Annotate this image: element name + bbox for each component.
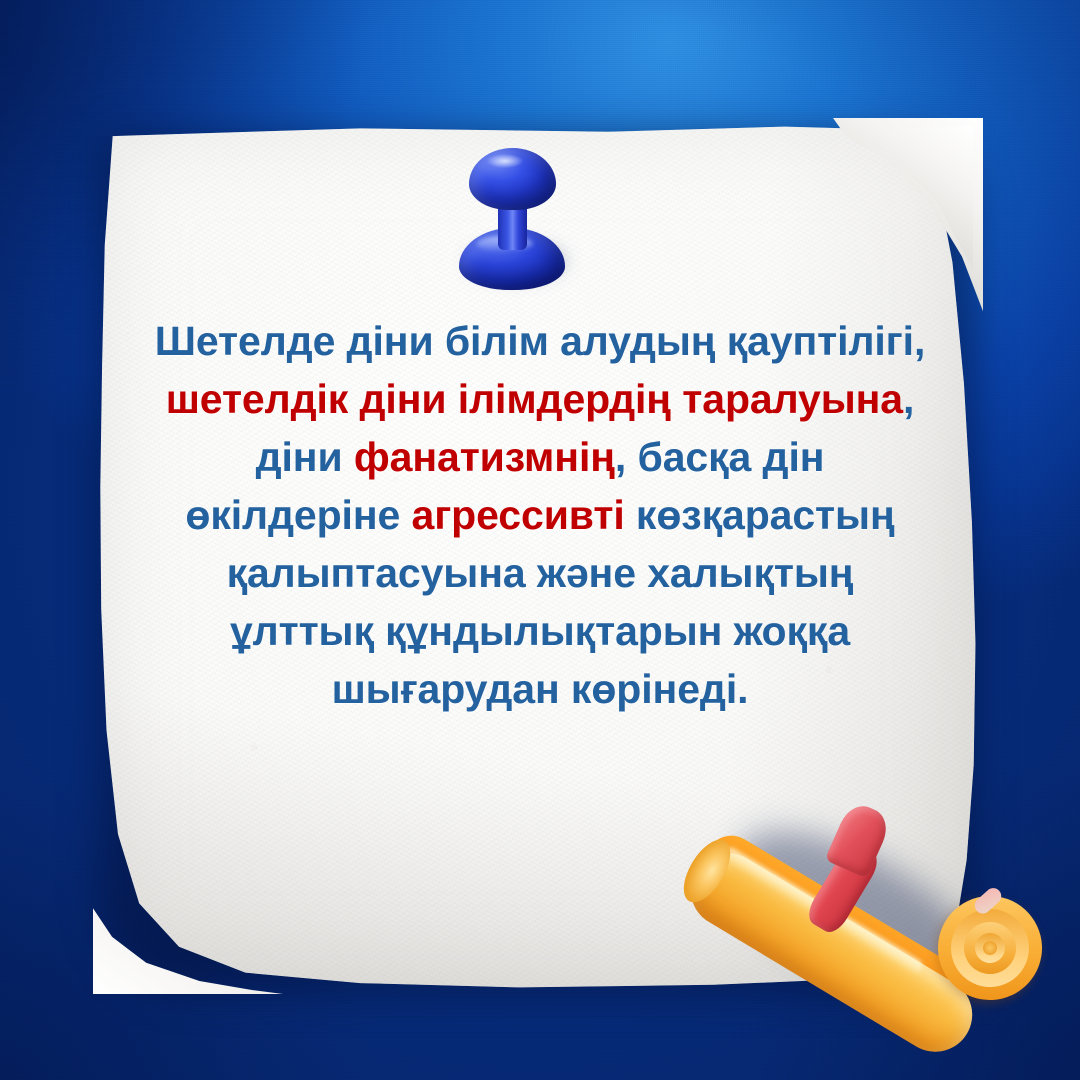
diploma-scroll-icon xyxy=(690,800,1060,1070)
pushpin-icon xyxy=(453,140,571,292)
pushpin-head-highlight xyxy=(487,154,523,168)
quote-segment-emphasis-3: агрессивті xyxy=(412,492,625,538)
quote-segment-plain-1: Шетелде діни білім алудың қауптілігі, xyxy=(155,318,926,364)
poster-canvas: Шетелде діни білім алудың қауптілігі, ше… xyxy=(0,0,1080,1080)
quote-segment-emphasis-1: шетелдік діни ілімдердің таралуына xyxy=(166,376,903,422)
quote-text: Шетелде діни білім алудың қауптілігі, ше… xyxy=(150,312,930,718)
quote-segment-emphasis-2: фанатизмнің xyxy=(354,434,615,480)
